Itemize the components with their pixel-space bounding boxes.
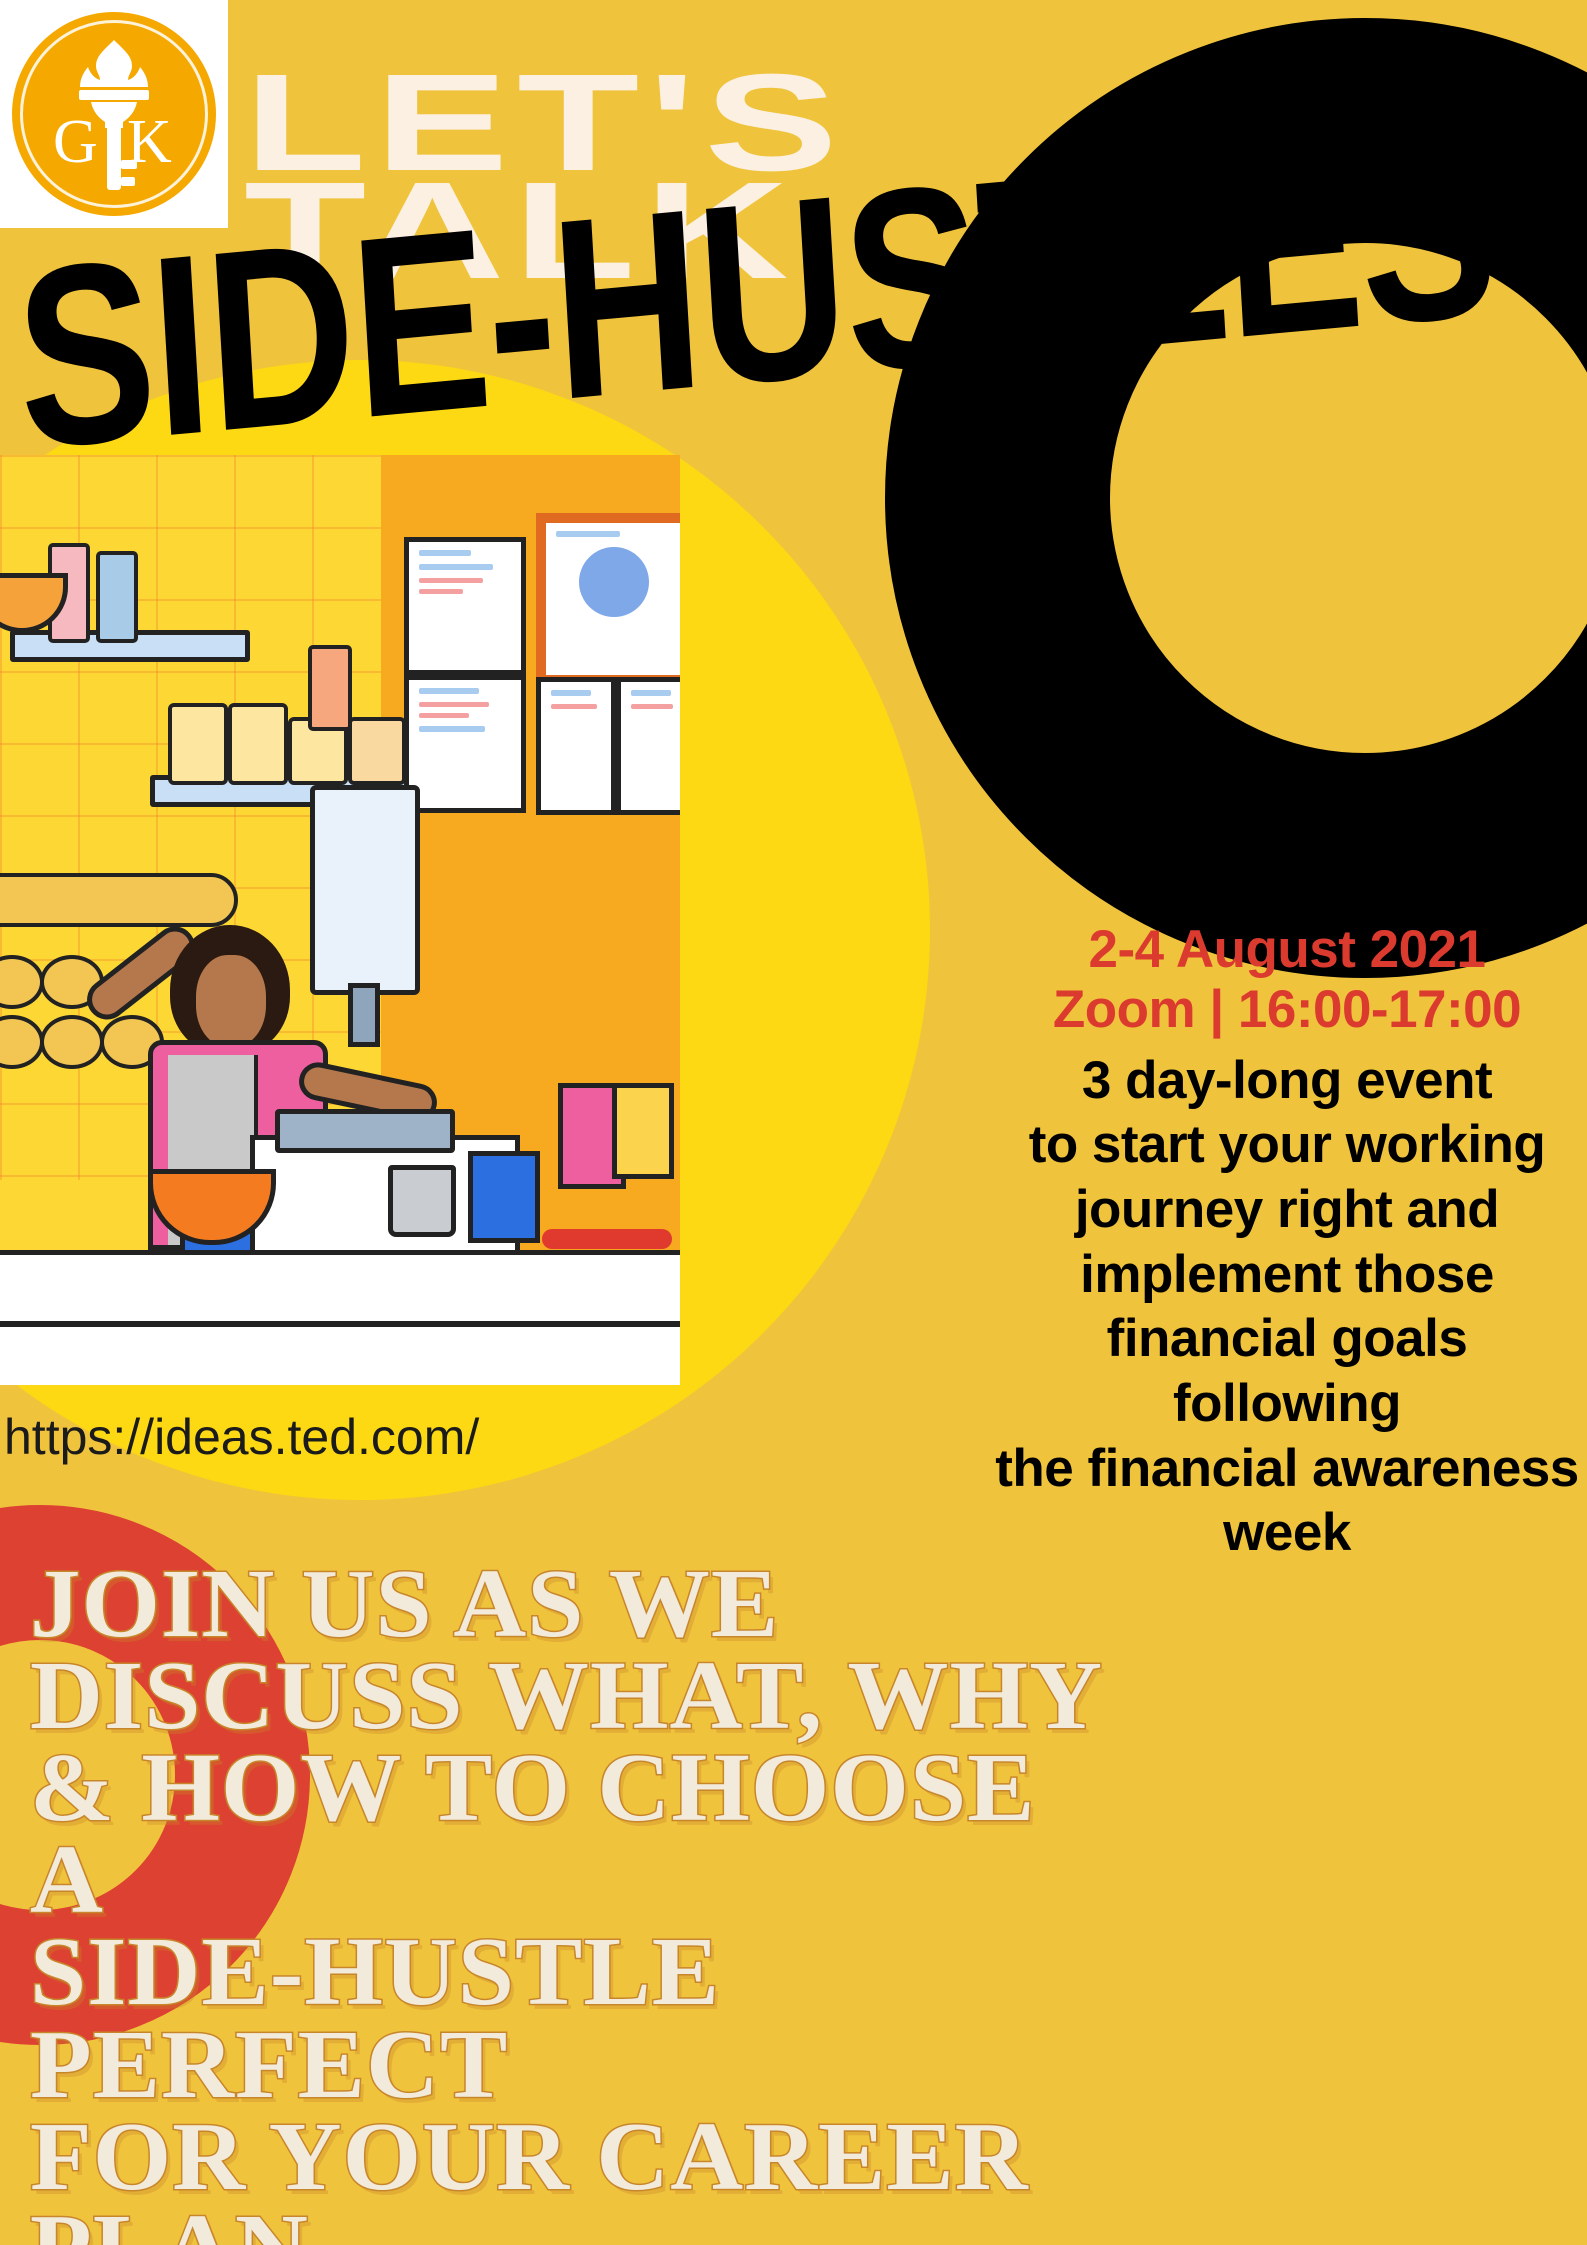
baguette <box>0 873 238 927</box>
wall-chart-2 <box>404 675 526 813</box>
bottle-orange <box>308 645 352 731</box>
event-description: 3 day-long event to start your working j… <box>987 1049 1587 1566</box>
event-headline: JOIN US AS WE DISCUSS WHAT, WHY & HOW TO… <box>30 1558 1122 2245</box>
event-date: 2-4 August 2021 <box>987 920 1587 980</box>
brand-logo: GK G K <box>0 0 228 228</box>
poster-canvas: GK G K LET'S TALK SIDE-HUSTLES <box>0 0 1587 2245</box>
svg-text:G: G <box>53 108 98 176</box>
bottle-blue <box>96 551 138 643</box>
counter-top <box>0 1250 680 1385</box>
jar-2 <box>228 703 288 785</box>
bread-roll-4 <box>40 1015 104 1069</box>
keyboard <box>275 1109 455 1153</box>
wall-chart-framed <box>536 513 680 685</box>
logo-circle: GK G K <box>12 12 216 216</box>
event-info-panel: 2-4 August 2021 Zoom | 16:00-17:00 3 day… <box>987 920 1587 1566</box>
shop-illustration <box>0 455 680 1385</box>
jar-1 <box>168 703 228 785</box>
source-url[interactable]: https://ideas.ted.com/ <box>4 1408 479 1466</box>
torch-key-icon: GK G K <box>39 34 189 194</box>
wall-chart-3 <box>536 677 616 815</box>
counter-edge <box>0 1321 680 1327</box>
wall-chart-4 <box>616 677 680 815</box>
monitor-stand <box>348 983 380 1047</box>
pencil-cup <box>388 1165 456 1237</box>
wall-chart-1 <box>404 537 526 675</box>
monitor <box>310 785 420 995</box>
event-platform-time: Zoom | 16:00-17:00 <box>987 980 1587 1040</box>
blue-folder <box>468 1151 540 1243</box>
jar-4 <box>348 717 406 785</box>
red-pen <box>542 1229 672 1249</box>
yellow-folder <box>612 1083 674 1179</box>
svg-text:K: K <box>127 108 172 176</box>
person-face <box>196 955 266 1047</box>
